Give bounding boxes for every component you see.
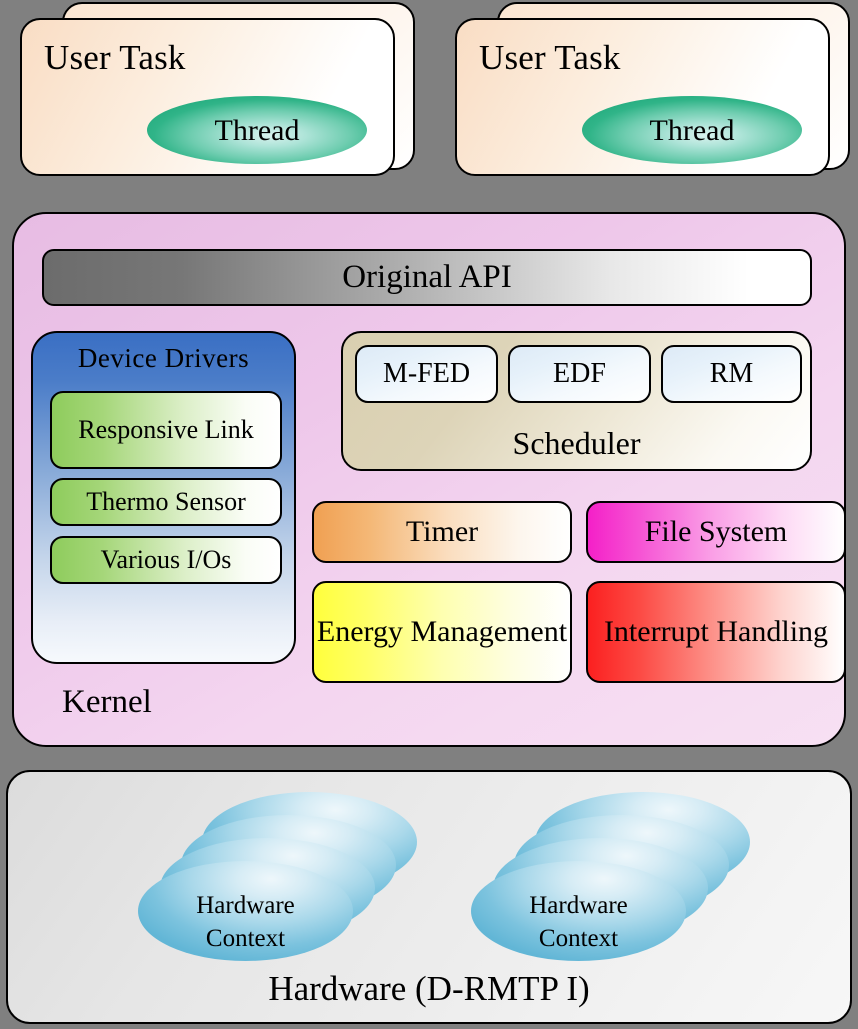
user-task-label-2: User Task bbox=[479, 40, 621, 75]
scheduler-algorithm-edf[interactable]: EDF bbox=[508, 345, 651, 403]
scheduler-label: Scheduler bbox=[343, 427, 810, 459]
service-box-file-system[interactable]: File System bbox=[586, 501, 846, 563]
hardware-context-label-2-line1: Hardware bbox=[471, 889, 686, 922]
service-box-timer[interactable]: Timer bbox=[312, 501, 572, 563]
thread-ellipse-1[interactable]: Thread bbox=[147, 96, 367, 164]
hardware-context-stack-2[interactable]: Hardware Context bbox=[471, 792, 751, 967]
scheduler-algorithm-label-2: RM bbox=[710, 360, 754, 388]
original-api-bar[interactable]: Original API bbox=[42, 249, 812, 306]
original-api-label: Original API bbox=[342, 261, 512, 294]
hardware-context-stack-1[interactable]: Hardware Context bbox=[138, 792, 418, 967]
thread-label-1: Thread bbox=[215, 116, 300, 146]
service-box-interrupt-handling[interactable]: Interrupt Handling bbox=[586, 581, 846, 683]
kernel-label: Kernel bbox=[62, 686, 152, 719]
thread-ellipse-2[interactable]: Thread bbox=[582, 96, 802, 164]
scheduler-algorithm-m-fed[interactable]: M-FED bbox=[355, 345, 498, 403]
service-label-timer: Timer bbox=[406, 515, 478, 550]
service-label-energy-management: Energy Management bbox=[317, 615, 567, 650]
driver-item-various-ios[interactable]: Various I/Os bbox=[50, 536, 282, 584]
thread-label-2: Thread bbox=[650, 116, 735, 146]
hardware-context-label-1-line1: Hardware bbox=[138, 889, 353, 922]
driver-item-label-1: Thermo Sensor bbox=[86, 487, 246, 518]
hardware-context-label-1: Hardware Context bbox=[138, 889, 353, 955]
driver-item-label-2: Various I/Os bbox=[101, 545, 232, 576]
scheduler-algorithm-label-1: EDF bbox=[553, 360, 606, 388]
service-label-file-system: File System bbox=[645, 515, 788, 550]
diagram-canvas: User Task Thread User Task Thread Origin… bbox=[0, 0, 858, 1029]
driver-item-thermo-sensor[interactable]: Thermo Sensor bbox=[50, 478, 282, 526]
device-drivers-title: Device Drivers bbox=[33, 345, 294, 372]
driver-item-responsive-link[interactable]: Responsive Link bbox=[50, 391, 282, 469]
hardware-context-label-1-line2: Context bbox=[138, 922, 353, 955]
hardware-context-label-2-line2: Context bbox=[471, 922, 686, 955]
scheduler-algorithm-rm[interactable]: RM bbox=[661, 345, 802, 403]
service-box-energy-management[interactable]: Energy Management bbox=[312, 581, 572, 683]
scheduler-algorithm-label-0: M-FED bbox=[383, 360, 470, 388]
user-task-label-1: User Task bbox=[44, 40, 186, 75]
service-label-interrupt-handling: Interrupt Handling bbox=[604, 615, 828, 650]
scheduler-panel[interactable]: M-FED EDF RM Scheduler bbox=[341, 331, 812, 471]
kernel-panel[interactable]: Original API Device Drivers Responsive L… bbox=[12, 212, 846, 747]
hardware-label: Hardware (D-RMTP I) bbox=[8, 971, 850, 1006]
user-task-card-1[interactable]: User Task Thread bbox=[20, 18, 395, 176]
hardware-panel[interactable]: Hardware Context Hardware Context Hardwa… bbox=[6, 770, 852, 1024]
user-task-card-2[interactable]: User Task Thread bbox=[455, 18, 830, 176]
driver-item-label-0: Responsive Link bbox=[78, 415, 254, 446]
device-drivers-panel[interactable]: Device Drivers Responsive Link Thermo Se… bbox=[31, 331, 296, 664]
hardware-context-label-2: Hardware Context bbox=[471, 889, 686, 955]
